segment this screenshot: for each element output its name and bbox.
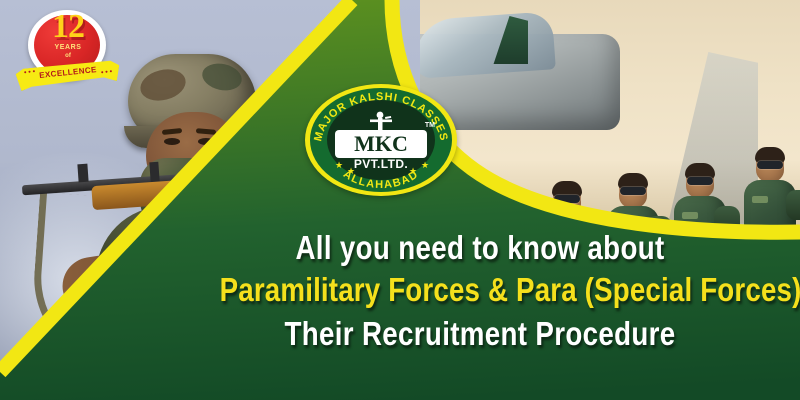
rifle-rear-sight: [149, 162, 159, 183]
sunglasses-icon: [554, 195, 580, 203]
headline-line-1: All you need to know about: [220, 228, 741, 268]
sunglasses-icon: [620, 187, 646, 195]
pilot-boot: [420, 364, 432, 382]
headline-line-2: Paramilitary Forces & Para (Special Forc…: [220, 268, 741, 312]
pilot-boot: [472, 362, 496, 380]
fighter-jet-canopy: [420, 11, 556, 79]
pilot-patch: [752, 196, 768, 203]
pilot-patch: [682, 212, 698, 219]
mkc-logo: MAJOR KALSHI CLASSES ALLAHABAD ★★ ★★ TM …: [305, 84, 457, 196]
badge-years-label: YEARS: [16, 44, 120, 52]
soldier-eye-right: [198, 138, 214, 145]
ribbon-dots-right: • • •: [100, 67, 112, 77]
pilot-boot: [508, 362, 533, 381]
sunglasses-icon: [489, 201, 515, 209]
badge-number: 12: [16, 10, 120, 44]
rifle-front-sight: [77, 164, 88, 183]
headline-line-3: Their Recruitment Procedure: [220, 312, 741, 356]
pilot-boot: [444, 364, 469, 383]
headline-block: All you need to know about Paramilitary …: [170, 228, 790, 356]
pilot-boot: [537, 356, 561, 374]
logo-suffix: PVT.LTD.: [305, 158, 457, 171]
sunglasses-icon: [687, 177, 713, 185]
logo-monogram: MKC: [335, 130, 427, 158]
sunglasses-icon: [425, 203, 451, 211]
sunglasses-icon: [757, 161, 783, 169]
soldier-brow-left: [162, 128, 182, 135]
badge-of-label: of: [16, 53, 120, 60]
soldier-eye-left: [164, 138, 180, 145]
pilot-helmet-bag: [786, 190, 800, 220]
trademark-symbol: TM: [425, 122, 435, 130]
pilot-boot: [573, 356, 598, 375]
promo-banner: 12 YEARS of • • • EXCELLENCE • • • MAJOR…: [0, 0, 800, 400]
soldier-brow-right: [196, 128, 216, 135]
anniversary-badge: 12 YEARS of • • • EXCELLENCE • • •: [16, 8, 120, 100]
